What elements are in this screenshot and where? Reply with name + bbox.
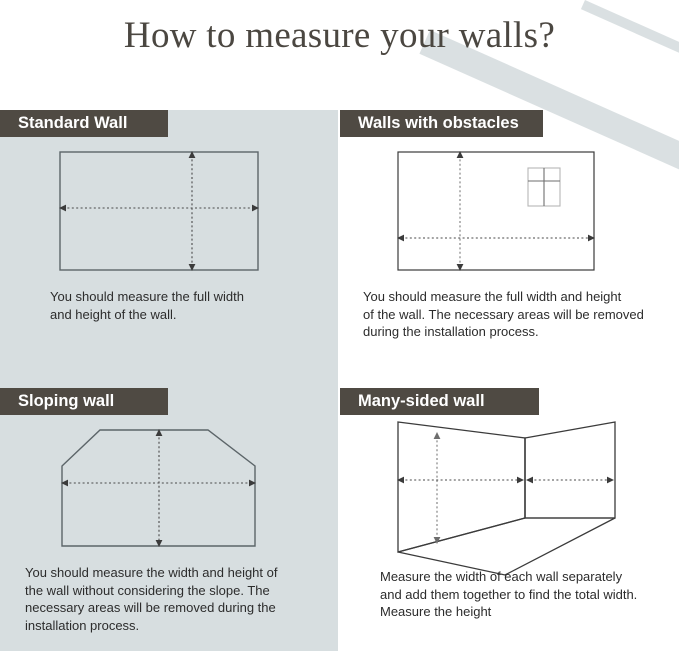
diagram-sloping-wall [0,400,340,570]
right-wall-width-arrow-head-left [526,477,533,484]
caption-sloping-wall: You should measure the width and height … [25,564,325,634]
diagram-many-sided-wall [340,400,679,575]
left-wall-width-arrow-head-right [517,477,524,484]
wall-rectangle [60,152,258,270]
diagram-standard-wall [0,0,340,300]
caption-standard-wall: You should measure the full width and he… [50,288,330,323]
infographic-page: How to measure your walls? Standard Wall… [0,0,679,651]
height-arrow-head-top [434,432,441,439]
caption-many-sided-wall: Measure the width of each wall separatel… [380,568,670,621]
wall-rectangle [398,152,594,270]
right-wall-width-arrow-head-right [607,477,614,484]
diagram-walls-with-obstacles [340,0,679,300]
left-wall-face [398,422,525,552]
floor-face [398,518,615,575]
caption-walls-with-obstacles: You should measure the full width and he… [363,288,663,341]
right-wall-face [525,422,615,518]
